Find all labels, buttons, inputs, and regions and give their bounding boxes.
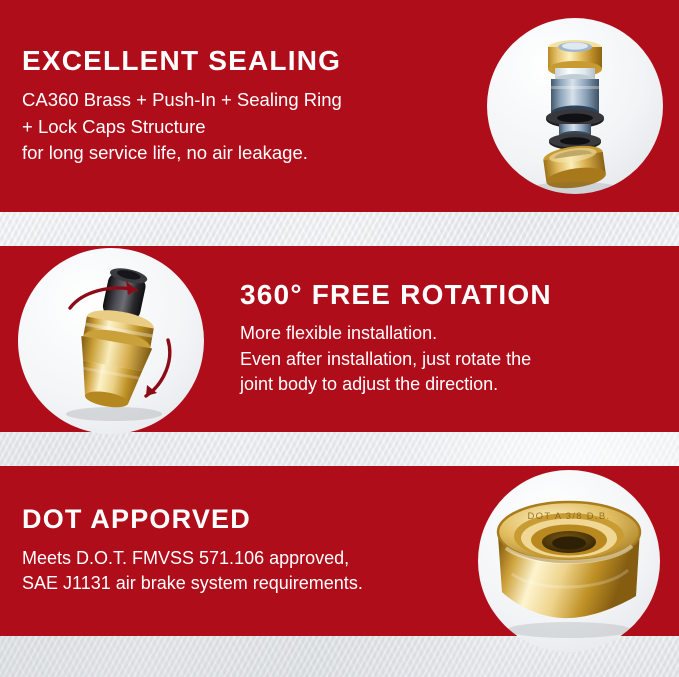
panel-body-line: for long service life, no air leakage. <box>22 140 470 166</box>
panel-body-line: Meets D.O.T. FMVSS 571.106 approved, <box>22 546 460 572</box>
engraved-dot-marking: DOT A 3/8 D.B. <box>528 511 611 522</box>
brass-fitting-with-rotation-arrows-photo <box>18 248 204 434</box>
panel-body-line: SAE J1131 air brake system requirements. <box>22 571 460 597</box>
brass-fitting-top-view-dot-marking-photo: DOT A 3/8 D.B. <box>478 470 660 652</box>
brass-push-in-fitting-exploded-view-photo <box>487 18 663 194</box>
panel-body-line: CA360 Brass + Push-In + Sealing Ring <box>22 87 470 113</box>
panel-body-line: joint body to adjust the direction. <box>240 372 440 398</box>
panel-headline: EXCELLENT SEALING <box>22 46 470 75</box>
panel-headline: DOT APPORVED <box>22 505 460 533</box>
panel-body-line: More flexible installation. <box>240 321 440 347</box>
panel-headline: 360° FREE ROTATION <box>240 280 440 309</box>
infographic-sheet: EXCELLENT SEALING CA360 Brass + Push-In … <box>0 0 679 677</box>
panel-body-line: + Lock Caps Structure <box>22 114 470 140</box>
panel-text-block: EXCELLENT SEALING CA360 Brass + Push-In … <box>0 46 470 166</box>
panel-text-block: DOT APPORVED Meets D.O.T. FMVSS 571.106 … <box>0 505 460 596</box>
panel-body-line: Even after installation, just rotate the <box>240 347 440 373</box>
